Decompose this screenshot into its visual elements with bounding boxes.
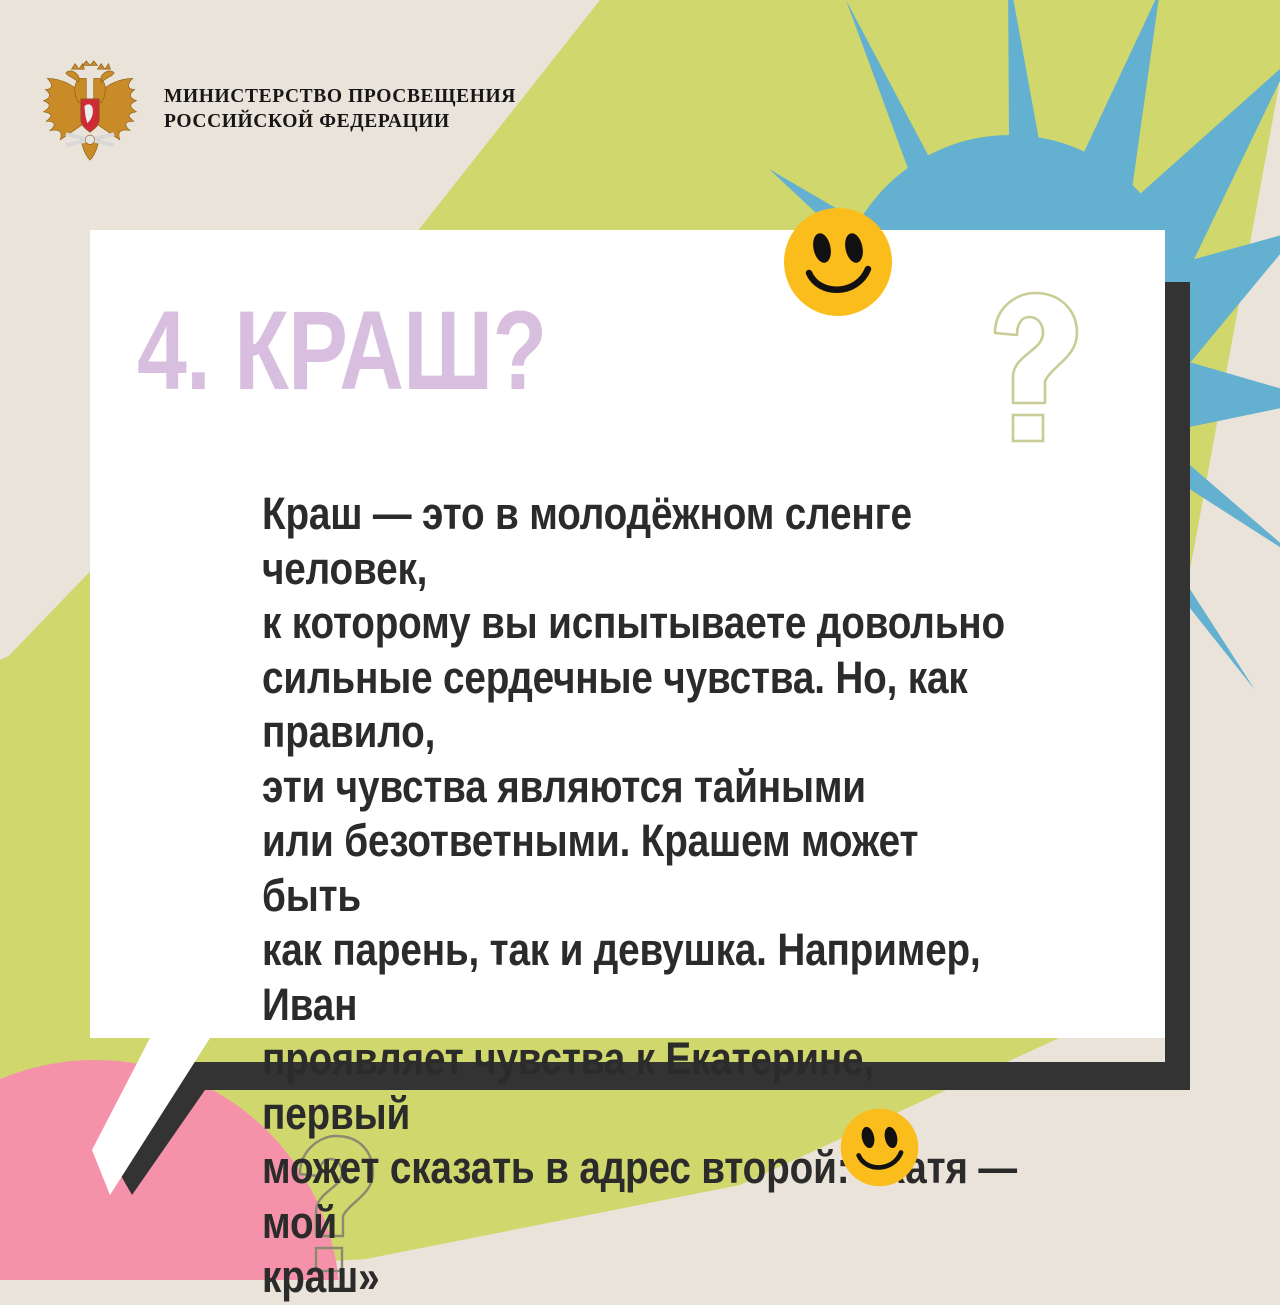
russian-double-headed-eagle-emblem [34,58,146,162]
smiley-face-icon [840,1108,919,1187]
poster-canvas: МИНИСТЕРСТВО ПРОСВЕЩЕНИЯ РОССИЙСКОЙ ФЕДЕ… [0,0,1280,1280]
smiley-face-icon [783,207,893,317]
question-mark-outline-icon [965,285,1095,445]
ministry-name-label: МИНИСТЕРСТВО ПРОСВЕЩЕНИЯ РОССИЙСКОЙ ФЕДЕ… [164,85,516,135]
page-title: 4. КРАШ? [137,296,546,406]
header: МИНИСТЕРСТВО ПРОСВЕЩЕНИЯ РОССИЙСКОЙ ФЕДЕ… [34,58,516,162]
